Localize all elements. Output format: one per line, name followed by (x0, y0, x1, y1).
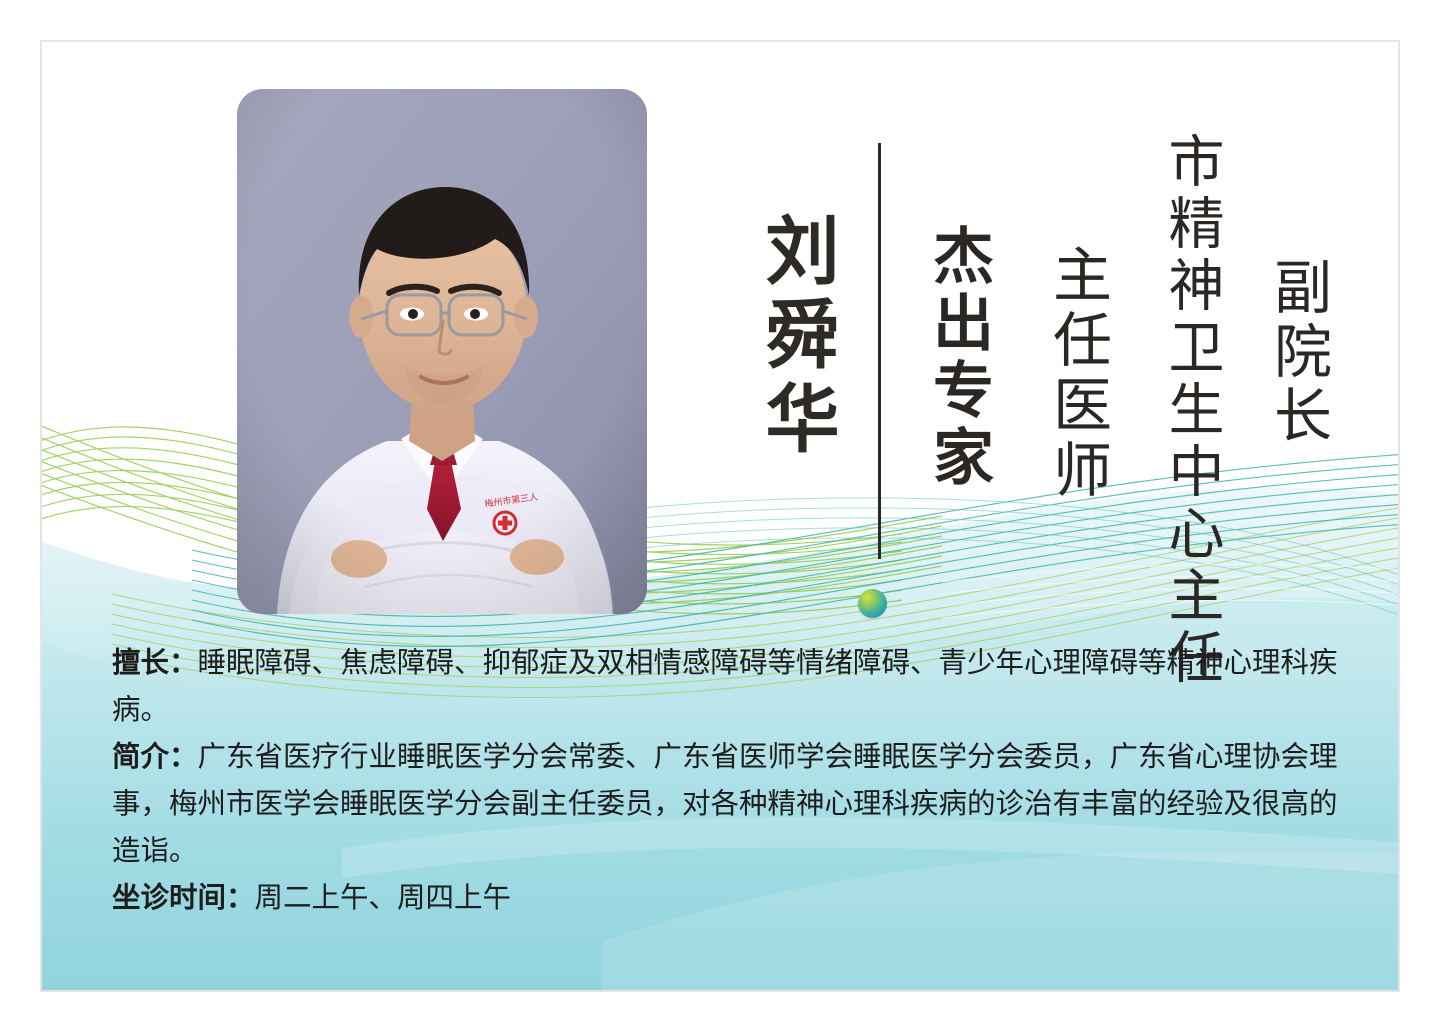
poster-page: 梅州市第三人 刘舜华 杰出专家 主任医师 市精神卫生中心主任 副院长 (0, 0, 1445, 1032)
specialty-colon: ： (169, 647, 198, 679)
doctor-photo: 梅州市第三人 (237, 89, 647, 614)
decorative-orb (858, 589, 887, 618)
schedule-text: 周二上午、周四上午 (255, 882, 512, 914)
doctor-badge: 杰出专家 (914, 224, 1003, 492)
doctor-admin-role: 副院长 (1255, 257, 1339, 449)
doctor-title: 主任医师 (1035, 244, 1120, 504)
vertical-divider (878, 143, 881, 559)
intro-text: 广东省医疗行业睡眠医学分会常委、广东省医师学会睡眠医学分会委员，广东省心理协会理… (112, 741, 1338, 867)
specialty-label: 擅长 (112, 647, 169, 679)
specialty-text: 睡眠障碍、焦虑障碍、抑郁症及双相情感障碍等情绪障碍、青少年心理障碍等精神心理科疾… (112, 647, 1338, 726)
doctor-profile-card: 梅州市第三人 刘舜华 杰出专家 主任医师 市精神卫生中心主任 副院长 (40, 40, 1400, 992)
bio-block: 擅长：睡眠障碍、焦虑障碍、抑郁症及双相情感障碍等情绪障碍、青少年心理障碍等精神心… (112, 640, 1347, 922)
schedule-colon: ： (226, 882, 255, 914)
schedule-line: 坐诊时间：周二上午、周四上午 (112, 875, 1347, 922)
intro-line: 简介：广东省医疗行业睡眠医学分会常委、广东省医师学会睡眠医学分会委员，广东省心理… (112, 734, 1347, 875)
schedule-label: 坐诊时间 (112, 882, 226, 914)
intro-colon: ： (169, 741, 198, 773)
doctor-center-role: 市精神卫生中心主任 (1152, 132, 1233, 690)
doctor-name: 刘舜华 (743, 212, 850, 464)
specialty-line: 擅长：睡眠障碍、焦虑障碍、抑郁症及双相情感障碍等情绪障碍、青少年心理障碍等精神心… (112, 640, 1347, 734)
intro-label: 简介 (112, 741, 169, 773)
